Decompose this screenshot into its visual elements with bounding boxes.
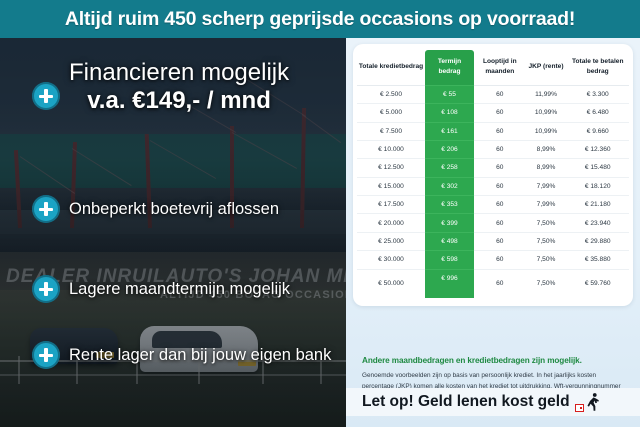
rates-table-card: Totale kredietbedragTermijn bedragLoopti… [353,44,633,306]
table-row: € 25.000€ 498607,50%€ 29.880 [357,232,629,250]
benefit-item-rente: Rente lager dan bij jouw eigen bank [32,341,331,369]
table-row: € 12.500€ 258608,99%€ 15.480 [357,159,629,177]
table-cell: 7,99% [526,196,567,214]
table-cell: € 206 [425,140,474,158]
benefit-label: Lagere maandtermijn mogelijk [69,280,290,299]
table-cell: 60 [474,122,526,140]
top-banner-text: Altijd ruim 450 scherp geprijsde occasio… [65,8,575,31]
table-cell: € 55 [425,85,474,103]
table-cell: 7,99% [526,177,567,195]
table-cell: 60 [474,251,526,269]
plus-icon [32,82,60,110]
table-row: € 10.000€ 206608,99%€ 12.360 [357,140,629,158]
rates-table-body: € 2.500€ 556011,99%€ 3.300€ 5.000€ 10860… [357,85,629,297]
table-cell: € 59.760 [566,269,629,298]
table-cell: € 161 [425,122,474,140]
table-column-header: Looptijd in maanden [474,50,526,85]
table-cell: 60 [474,104,526,122]
table-cell: € 23.940 [566,214,629,232]
table-cell: 60 [474,196,526,214]
warning-icon-group [575,392,600,412]
warning-text: Let op! Geld lenen kost geld [362,393,570,411]
table-cell: € 7.500 [357,122,425,140]
benefit-text-block: Financieren mogelijk v.a. €149,- / mnd [69,60,289,116]
table-row: € 7.500€ 1616010,99%€ 9.660 [357,122,629,140]
table-cell: € 12.500 [357,159,425,177]
table-cell: 60 [474,269,526,298]
benefit-label: Rente lager dan bij jouw eigen bank [69,346,331,365]
table-cell: € 498 [425,232,474,250]
table-row: € 17.500€ 353607,99%€ 21.180 [357,196,629,214]
rates-table: Totale kredietbedragTermijn bedragLoopti… [357,50,629,298]
table-cell: € 20.000 [357,214,425,232]
table-cell: € 996 [425,269,474,298]
table-cell: € 21.180 [566,196,629,214]
table-cell: 8,99% [526,140,567,158]
table-cell: € 50.000 [357,269,425,298]
table-cell: € 258 [425,159,474,177]
table-cell: € 399 [425,214,474,232]
notes-title: Andere maandbedragen en kredietbedragen … [362,356,628,365]
benefits-list: Financieren mogelijk v.a. €149,- / mnd O… [0,38,346,427]
table-cell: 8,99% [526,159,567,177]
table-cell: 7,50% [526,214,567,232]
table-row: € 2.500€ 556011,99%€ 3.300 [357,85,629,103]
table-cell: € 15.000 [357,177,425,195]
benefit-label: Onbeperkt boetevrij aflossen [69,200,279,219]
table-cell: € 108 [425,104,474,122]
plus-icon [32,341,60,369]
table-cell: € 30.000 [357,251,425,269]
benefit-item-maandtermijn: Lagere maandtermijn mogelijk [32,275,290,303]
plus-icon [32,275,60,303]
table-cell: 11,99% [526,85,567,103]
table-cell: € 598 [425,251,474,269]
table-cell: € 2.500 [357,85,425,103]
table-cell: € 18.120 [566,177,629,195]
table-cell: € 9.660 [566,122,629,140]
table-row: € 30.000€ 598607,50%€ 35.880 [357,251,629,269]
top-banner: Altijd ruim 450 scherp geprijsde occasio… [0,0,640,38]
table-cell: 60 [474,214,526,232]
table-cell: € 10.000 [357,140,425,158]
table-cell: € 17.500 [357,196,425,214]
table-cell: € 15.480 [566,159,629,177]
table-cell: € 6.480 [566,104,629,122]
table-row: € 50.000€ 996607,50%€ 59.760 [357,269,629,298]
table-column-header: JKP (rente) [526,50,567,85]
table-cell: € 29.880 [566,232,629,250]
table-header-row: Totale kredietbedragTermijn bedragLoopti… [357,50,629,85]
table-cell: 60 [474,232,526,250]
table-cell: 60 [474,177,526,195]
table-cell: € 35.880 [566,251,629,269]
table-cell: 60 [474,85,526,103]
table-cell: 7,50% [526,232,567,250]
advertisement-banner: Altijd ruim 450 scherp geprijsde occasio… [0,0,640,427]
table-cell: 10,99% [526,122,567,140]
benefit-label-line1: Financieren mogelijk [69,60,289,87]
table-cell: 7,50% [526,251,567,269]
table-row: € 15.000€ 302607,99%€ 18.120 [357,177,629,195]
benefit-item-financieren: Financieren mogelijk v.a. €149,- / mnd [32,60,289,116]
table-column-header: Totale kredietbedrag [357,50,425,85]
warning-bar: Let op! Geld lenen kost geld [346,388,640,416]
table-column-header: Termijn bedrag [425,50,474,85]
table-cell: € 353 [425,196,474,214]
table-cell: € 302 [425,177,474,195]
plus-icon [32,195,60,223]
table-cell: € 25.000 [357,232,425,250]
table-cell: € 12.360 [566,140,629,158]
table-cell: 60 [474,159,526,177]
benefit-item-aflossen: Onbeperkt boetevrij aflossen [32,195,279,223]
table-cell: 10,99% [526,104,567,122]
table-cell: 60 [474,140,526,158]
table-row: € 20.000€ 399607,50%€ 23.940 [357,214,629,232]
table-cell: 7,50% [526,269,567,298]
rates-table-head: Totale kredietbedragTermijn bedragLoopti… [357,50,629,85]
table-column-header: Totale te betalen bedrag [566,50,629,85]
credit-info-panel: Totale kredietbedragTermijn bedragLoopti… [346,38,640,427]
door-icon [575,404,584,412]
table-cell: € 5.000 [357,104,425,122]
benefit-label-line2: v.a. €149,- / mnd [87,87,271,116]
table-cell: € 3.300 [566,85,629,103]
walking-person-icon [586,392,600,412]
table-row: € 5.000€ 1086010,99%€ 6.480 [357,104,629,122]
